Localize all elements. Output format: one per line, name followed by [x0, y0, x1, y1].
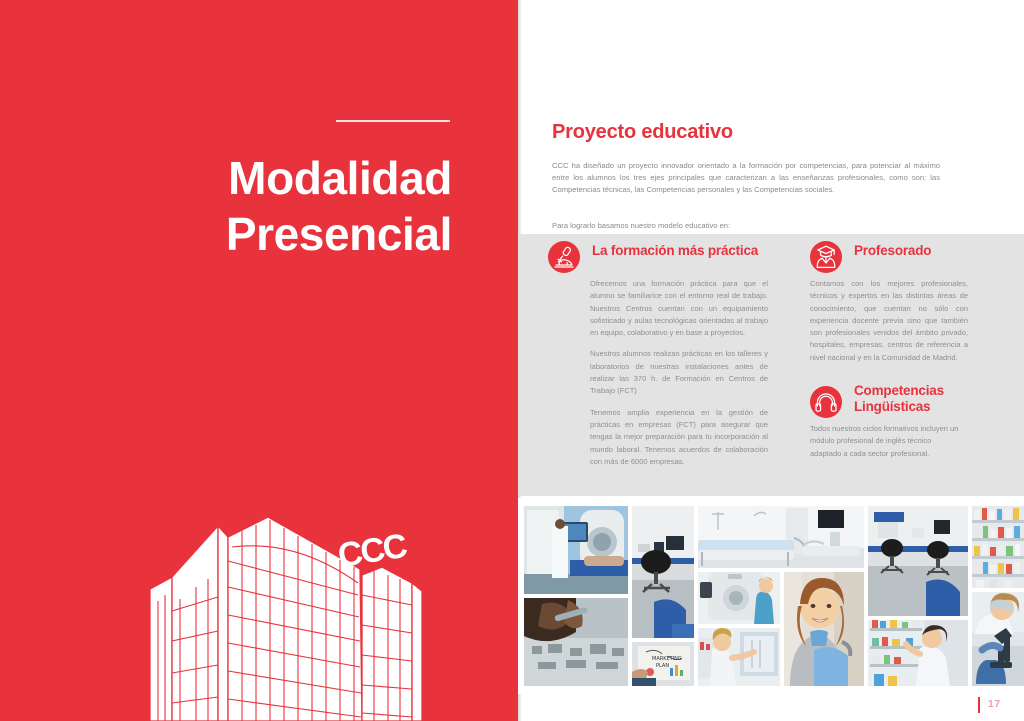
feature-heading-label: Competencias Lingüísticas [854, 383, 944, 415]
photo-mosaic: MARKETING PLAN [518, 498, 1024, 694]
photo-student-taking-xray [698, 628, 780, 686]
title-rule-divider [336, 120, 450, 122]
photo-computer-classroom-desks [632, 506, 694, 638]
feature-block-practical-training: La formación más práctica Ofrecemos una … [548, 238, 800, 477]
page-title: Proyecto educativo [552, 121, 992, 144]
features-panel: La formación más práctica Ofrecemos una … [518, 234, 1024, 496]
feature-heading-row: Profesorado [810, 238, 1000, 278]
cover-title-line-2: Presencial [40, 206, 452, 262]
feature-paragraph: Todos nuestros ciclos formativos incluye… [810, 423, 962, 460]
feature-heading-label: Profesorado [854, 243, 931, 259]
cover-title-line-1: Modalidad [40, 150, 452, 206]
feature-paragraph: Ofrecemos una formación práctica para qu… [590, 278, 768, 339]
photo-pharmacist-stocking-shelf [868, 620, 968, 686]
brochure-page: Modalidad Presencial [0, 0, 1024, 721]
feature-heading-row: Competencias Lingüísticas [810, 383, 1000, 423]
photo-laboratory-workstations [868, 506, 968, 616]
photo-marketing-plan-sketch: MARKETING PLAN [632, 642, 694, 686]
feature-block-faculty: Profesorado Contamos con los mejores pro… [810, 238, 1000, 364]
page-number: 17 [988, 699, 1001, 710]
feature-heading-label: La formación más práctica [592, 243, 758, 259]
content-column: Proyecto educativo CCC ha diseñado un pr… [518, 0, 1024, 721]
photo-hands-soldering-circuit-board [524, 598, 628, 686]
intro-paragraph: CCC ha diseñado un proyecto innovador or… [552, 160, 940, 197]
photo-pharmacy-shelves [972, 506, 1024, 588]
photo-hospital-beds-ward [698, 506, 864, 568]
intro-paragraph-secondary: Para lograrlo basamos nuestro modelo edu… [552, 220, 940, 232]
svg-text:PLAN: PLAN [656, 663, 669, 669]
graduate-icon [810, 241, 842, 273]
feature-paragraph: Contamos con los mejores profesionales, … [810, 278, 968, 364]
footer-rule [978, 697, 980, 713]
photo-radiology-technician-ct-scanner [524, 506, 628, 594]
photo-scientist-at-microscope [972, 592, 1024, 686]
feature-heading-line-2: Lingüísticas [854, 399, 930, 414]
feature-column-right: Profesorado Contamos con los mejores pro… [810, 238, 1000, 469]
column-spacer [810, 373, 1000, 383]
feature-paragraph: Tenemos amplia experiencia en la gestión… [590, 407, 768, 468]
photo-smiling-student-with-folder [784, 572, 864, 686]
feature-block-language-skills: Competencias Lingüísticas Todos nuestros… [810, 383, 1000, 460]
feature-paragraph: Nuestros alumnos realizan prácticas en l… [590, 348, 768, 397]
feature-heading-line-1: Competencias [854, 383, 944, 398]
building-illustration [150, 491, 518, 721]
microscope-icon [548, 241, 580, 273]
cover-red-panel: Modalidad Presencial [0, 0, 518, 721]
cover-title: Modalidad Presencial [40, 150, 452, 262]
feature-heading-row: La formación más práctica [548, 238, 800, 278]
svg-text:MARKETING: MARKETING [652, 656, 682, 662]
photo-nurse-beside-ct-scanner [698, 572, 780, 624]
headphones-icon [810, 386, 842, 418]
